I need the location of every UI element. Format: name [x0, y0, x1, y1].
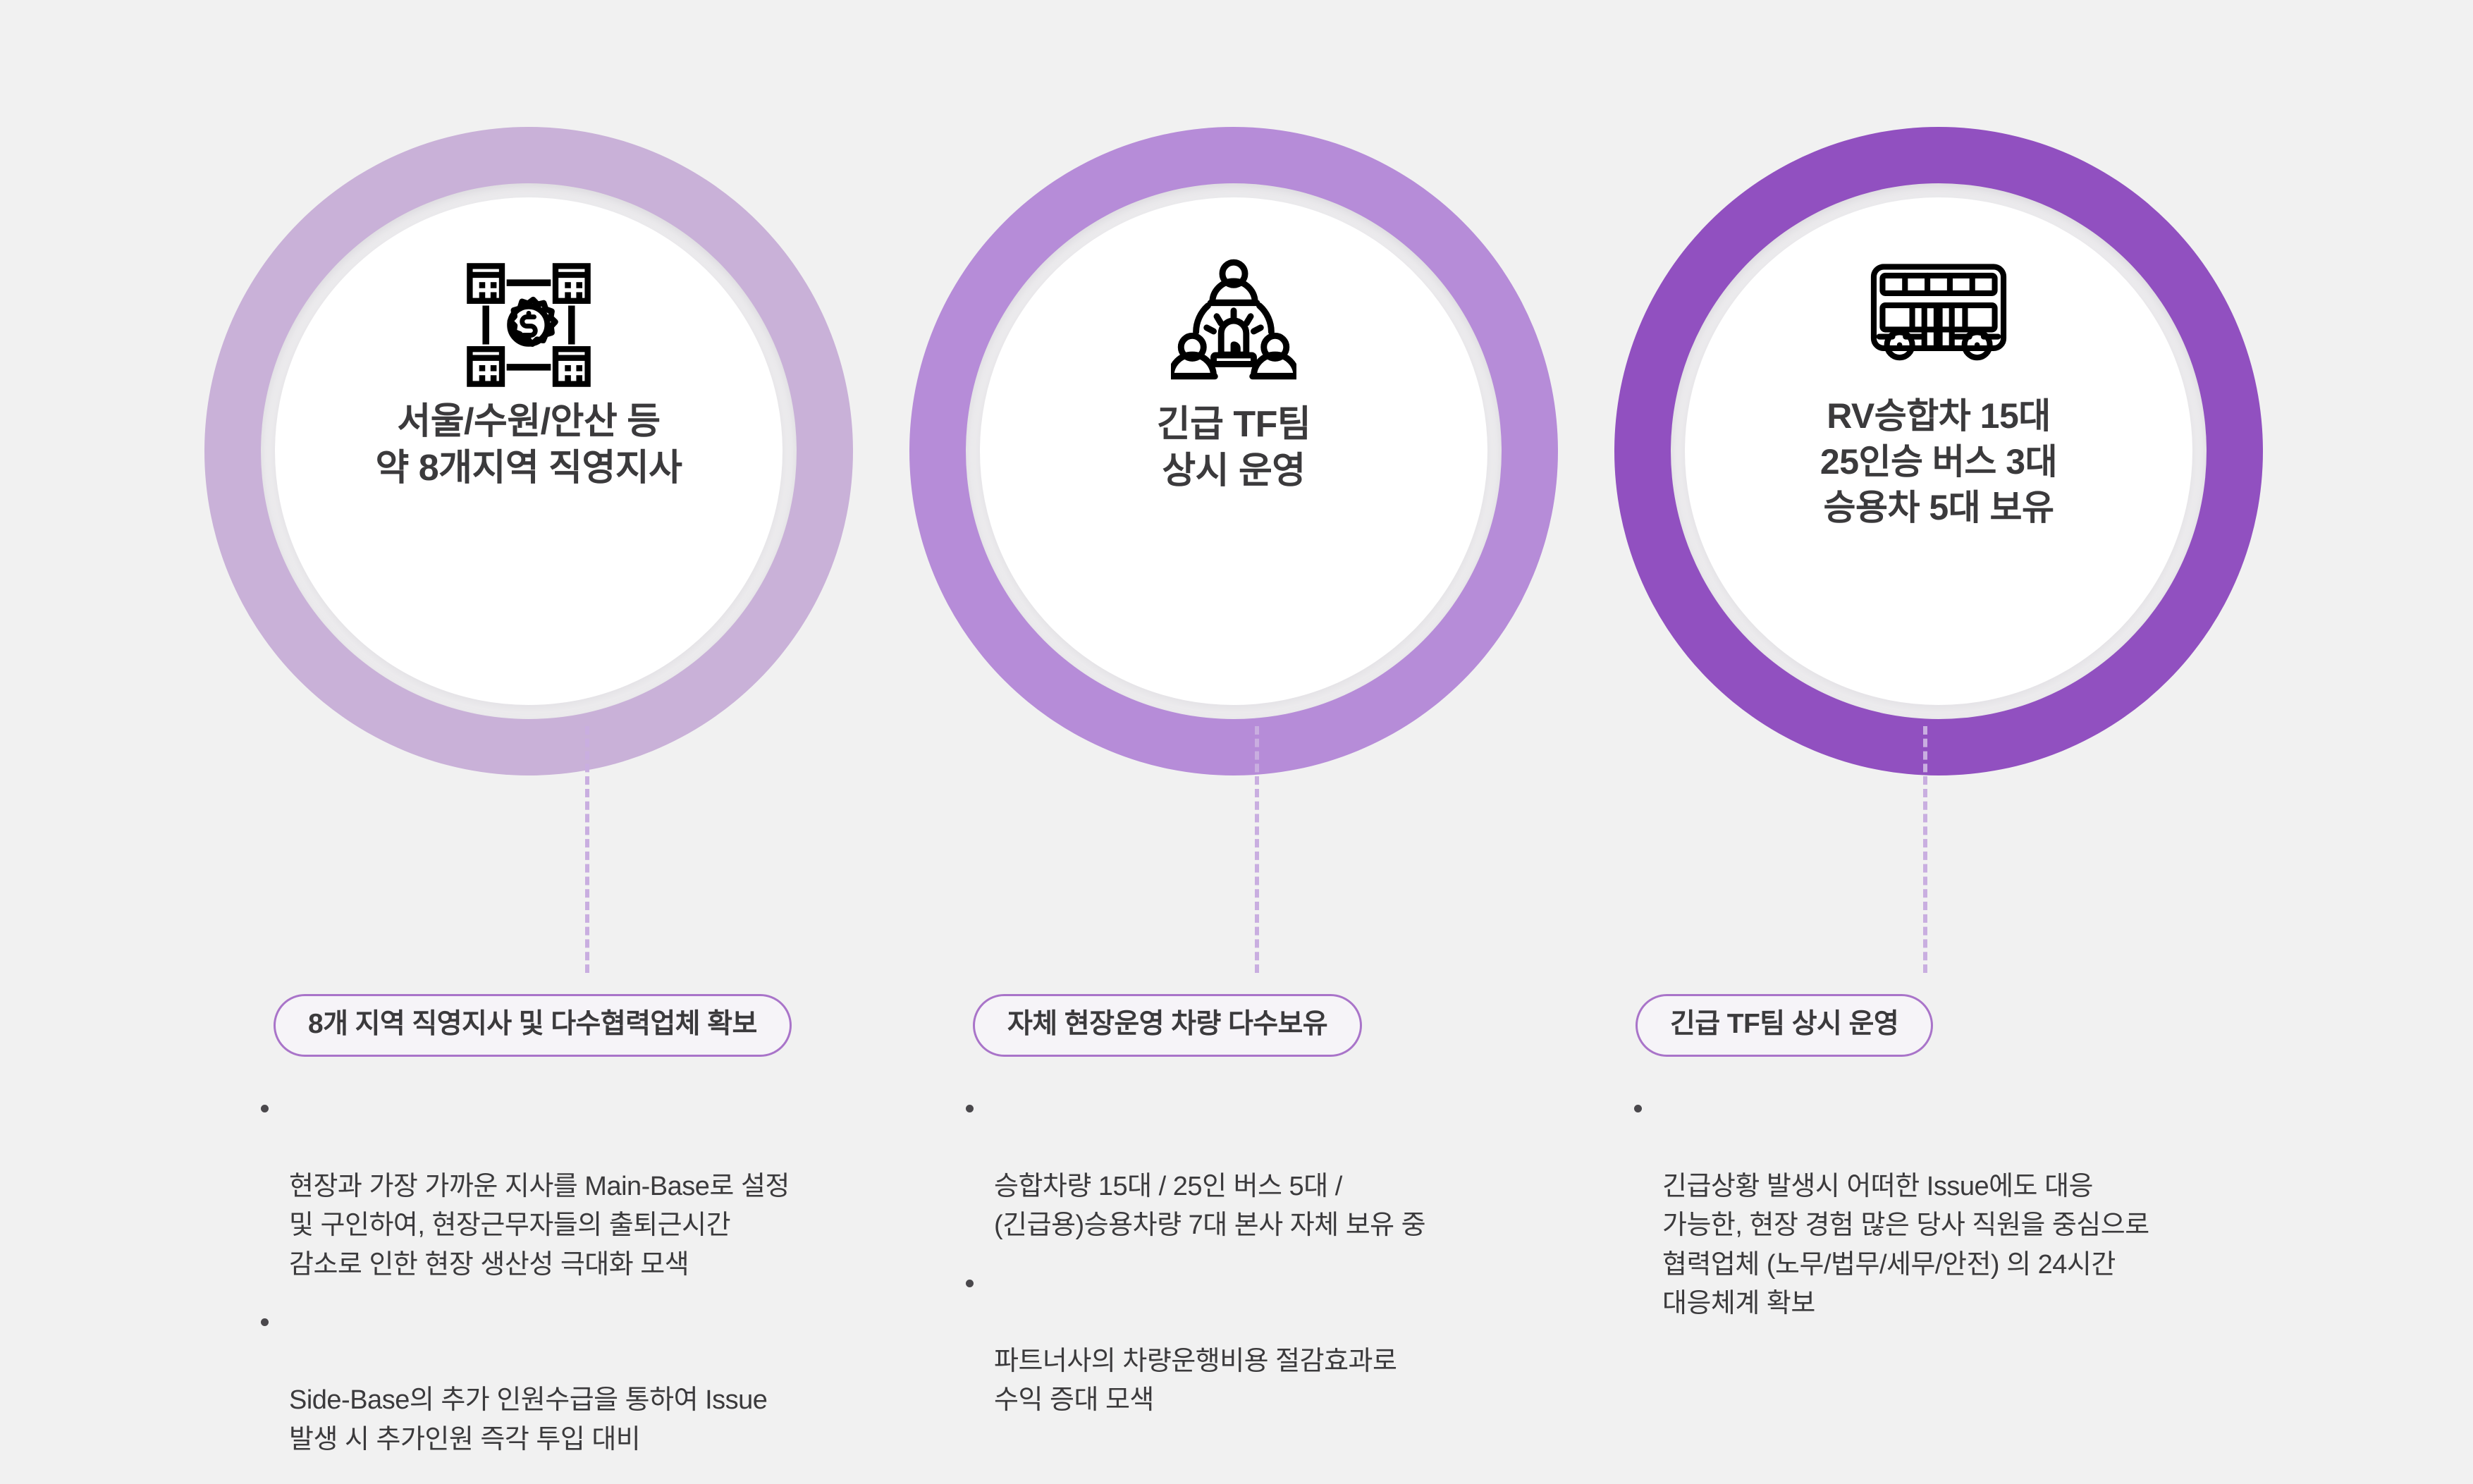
list-item: 파트너사의 차량운행비용 절감효과로 수익 증대 모색 — [953, 1264, 1630, 1421]
bullet-text: 파트너사의 차량운행비용 절감효과로 수익 증대 모색 — [994, 1347, 1397, 1415]
bullet-text: 긴급상황 발생시 어떠한 Issue에도 대응 가능한, 현장 경험 많은 당사… — [1662, 1172, 2149, 1318]
pill-badge-2[interactable]: 자체 현장운영 차량 다수보유 — [973, 994, 1362, 1057]
ring-inner-1: 서울/수원/안산 등 약 8개지역 직영지사 — [275, 197, 783, 705]
circle-title-1: 서울/수원/안산 등 약 8개지역 직영지사 — [375, 399, 682, 491]
pill-badge-1[interactable]: 8개 지역 직영지사 및 다수협력업체 확보 — [274, 994, 792, 1057]
list-item: 현장과 가장 가까운 지사를 Main-Base로 설정 및 구인하여, 현장근… — [248, 1089, 925, 1284]
bullet-dot-icon — [1634, 1105, 1642, 1112]
bullet-text: 현장과 가장 가까운 지사를 Main-Base로 설정 및 구인하여, 현장근… — [289, 1172, 790, 1280]
bullet-dot-icon — [966, 1105, 974, 1112]
pill-wrap-2: 자체 현장운영 차량 다수보유 — [953, 994, 1630, 1057]
ring-inner-3: RV승합차 15대 25인승 버스 3대 승용차 5대 보유 — [1685, 197, 2192, 705]
circle-card-2[interactable]: 긴급 TF팀 상시 운영 — [909, 127, 1558, 775]
list-item: 긴급상황 발생시 어떠한 Issue에도 대응 가능한, 현장 경험 많은 당사… — [1621, 1089, 2333, 1324]
rings-section: 서울/수원/안산 등 약 8개지역 직영지사 — [0, 0, 2473, 916]
pill-badge-3[interactable]: 긴급 TF팀 상시 운영 — [1636, 994, 1933, 1057]
detail-column-1: 8개 지역 직영지사 및 다수협력업체 확보 현장과 가장 가까운 지사를 Ma… — [248, 994, 925, 1478]
list-item: Side-Base의 추가 인원수급을 통하여 Issue 발생 시 추가인원 … — [248, 1303, 925, 1459]
connector-line-1 — [585, 726, 589, 973]
bullet-list-1: 현장과 가장 가까운 지사를 Main-Base로 설정 및 구인하여, 현장근… — [248, 1089, 925, 1459]
bullet-text: 승합차량 15대 / 25인 버스 5대 / (긴급용)승용차량 7대 본사 자… — [994, 1172, 1425, 1240]
circle-card-3[interactable]: RV승합차 15대 25인승 버스 3대 승용차 5대 보유 — [1614, 127, 2263, 775]
pill-wrap-3: 긴급 TF팀 상시 운영 — [1621, 994, 2333, 1057]
connector-line-3 — [1923, 726, 1927, 973]
list-item: 승합차량 15대 / 25인 버스 5대 / (긴급용)승용차량 7대 본사 자… — [953, 1089, 1630, 1246]
circle-title-2: 긴급 TF팀 상시 운영 — [1157, 402, 1311, 494]
connector-line-2 — [1255, 726, 1259, 973]
bullet-list-3: 긴급상황 발생시 어떠한 Issue에도 대응 가능한, 현장 경험 많은 당사… — [1621, 1089, 2333, 1324]
circle-title-3: RV승합차 15대 25인승 버스 3대 승용차 5대 보유 — [1820, 393, 2057, 531]
emergency-team-siren-icon — [1171, 258, 1296, 384]
building-network-money-gear-icon — [462, 258, 596, 392]
ring-inner-2: 긴급 TF팀 상시 운영 — [980, 197, 1487, 705]
bullet-text: Side-Base의 추가 인원수급을 통하여 Issue 발생 시 추가인원 … — [289, 1385, 767, 1454]
detail-column-3: 긴급 TF팀 상시 운영 긴급상황 발생시 어떠한 Issue에도 대응 가능한… — [1621, 994, 2333, 1342]
bullet-list-2: 승합차량 15대 / 25인 버스 5대 / (긴급용)승용차량 7대 본사 자… — [953, 1089, 1630, 1421]
details-section: 8개 지역 직영지사 및 다수협력업체 확보 현장과 가장 가까운 지사를 Ma… — [0, 994, 2473, 1480]
circle-card-1[interactable]: 서울/수원/안산 등 약 8개지역 직영지사 — [204, 127, 853, 775]
bullet-dot-icon — [966, 1280, 974, 1287]
bullet-dot-icon — [261, 1105, 269, 1112]
bullet-dot-icon — [261, 1318, 269, 1326]
detail-column-2: 자체 현장운영 차량 다수보유 승합차량 15대 / 25인 버스 5대 / (… — [953, 994, 1630, 1439]
double-decker-bus-icon — [1868, 258, 2009, 368]
pill-wrap-1: 8개 지역 직영지사 및 다수협력업체 확보 — [248, 994, 925, 1057]
